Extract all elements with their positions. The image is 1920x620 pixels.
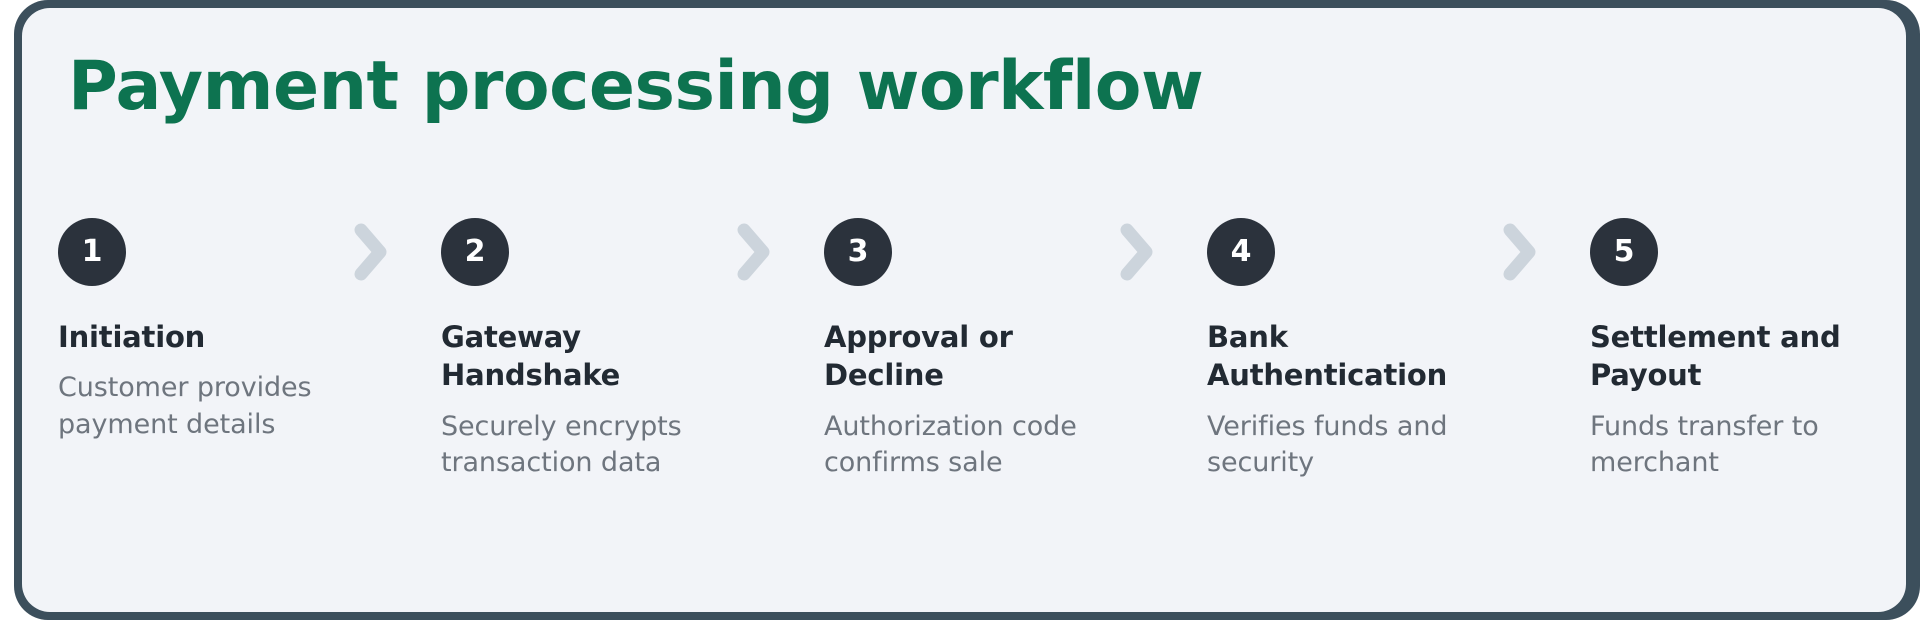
page-title: Payment processing workflow <box>68 50 1203 125</box>
chevron-right-icon <box>354 223 388 281</box>
step-connector-3 <box>1092 218 1207 286</box>
step-title: Settlement and Payout <box>1590 318 1858 395</box>
workflow-step-1[interactable]: 1 Initiation Customer provides payment d… <box>58 218 326 444</box>
step-title: Gateway Handshake <box>441 318 709 395</box>
step-description: Securely encrypts transaction data <box>441 409 709 482</box>
step-number-label: 4 <box>1231 237 1252 267</box>
step-number-badge: 4 <box>1207 218 1275 286</box>
step-connector-1 <box>326 218 441 286</box>
step-number-badge: 5 <box>1590 218 1658 286</box>
step-connector-4 <box>1475 218 1590 286</box>
step-number-badge: 2 <box>441 218 509 286</box>
chevron-right-icon <box>737 223 771 281</box>
step-number-label: 5 <box>1614 237 1635 267</box>
step-description: Funds transfer to merchant <box>1590 409 1858 482</box>
step-number-label: 2 <box>465 237 486 267</box>
step-title: Bank Authentication <box>1207 318 1475 395</box>
workflow-step-2[interactable]: 2 Gateway Handshake Securely encrypts tr… <box>441 218 709 482</box>
step-connector-2 <box>709 218 824 286</box>
workflow-card: Payment processing workflow 1 Initiation… <box>22 8 1906 612</box>
step-title: Approval or Decline <box>824 318 1092 395</box>
workflow-steps: 1 Initiation Customer provides payment d… <box>58 218 1876 482</box>
workflow-step-5[interactable]: 5 Settlement and Payout Funds transfer t… <box>1590 218 1858 482</box>
step-number-badge: 1 <box>58 218 126 286</box>
chevron-right-icon <box>1120 223 1154 281</box>
step-title: Initiation <box>58 318 326 356</box>
step-number-badge: 3 <box>824 218 892 286</box>
chevron-right-icon <box>1503 223 1537 281</box>
workflow-step-3[interactable]: 3 Approval or Decline Authorization code… <box>824 218 1092 482</box>
step-description: Customer provides payment details <box>58 370 326 443</box>
workflow-step-4[interactable]: 4 Bank Authentication Verifies funds and… <box>1207 218 1475 482</box>
step-description: Authorization code confirms sale <box>824 409 1092 482</box>
step-number-label: 1 <box>82 237 103 267</box>
step-description: Verifies funds and security <box>1207 409 1475 482</box>
step-number-label: 3 <box>848 237 869 267</box>
